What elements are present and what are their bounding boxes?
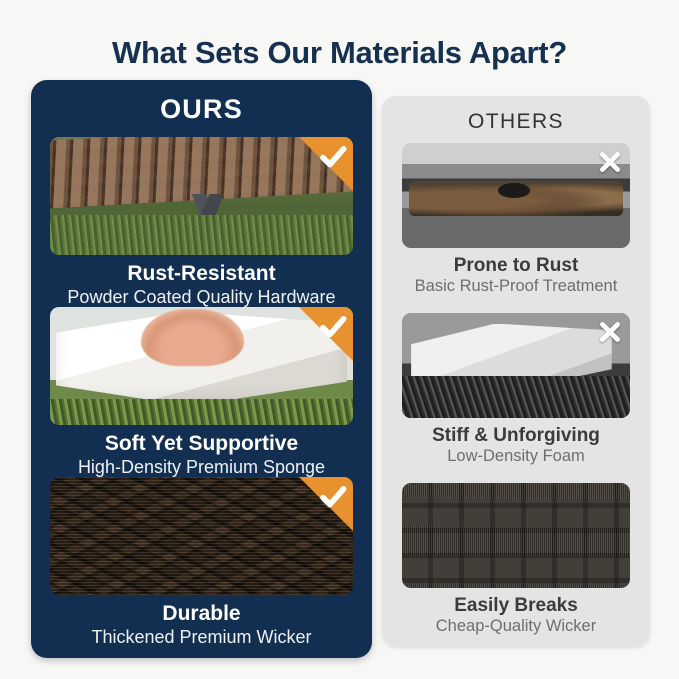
- ours-feature-subtitle: Thickened Premium Wicker: [31, 627, 372, 649]
- ours-feature-item: Rust-Resistant Powder Coated Quality Har…: [31, 137, 372, 308]
- others-panel-heading: OTHERS: [382, 110, 650, 134]
- ours-caption: Rust-Resistant Powder Coated Quality Har…: [31, 262, 372, 308]
- ours-feature-title: Soft Yet Supportive: [31, 432, 372, 456]
- photo-surface: [50, 477, 353, 595]
- others-caption: Stiff & Unforgiving Low-Density Foam: [382, 425, 650, 467]
- others-caption: Prone to Rust Basic Rust-Proof Treatment: [382, 255, 650, 297]
- photo-surface: [402, 483, 630, 588]
- x-icon: [597, 149, 623, 175]
- ours-feature-title: Rust-Resistant: [31, 262, 372, 286]
- check-icon: [318, 142, 348, 172]
- page-title: What Sets Our Materials Apart?: [0, 35, 679, 71]
- x-icon: [597, 319, 623, 345]
- photo-surface: [402, 313, 630, 418]
- others-feature-subtitle: Low-Density Foam: [382, 447, 650, 467]
- ours-caption: Durable Thickened Premium Wicker: [31, 602, 372, 648]
- photo-surface: [402, 143, 630, 248]
- ours-caption: Soft Yet Supportive High-Density Premium…: [31, 432, 372, 478]
- others-panel: OTHERS Prone to Rust Basic Rust-Proof Tr…: [382, 96, 650, 646]
- tight-wicker-weave-photo: [50, 477, 353, 595]
- check-icon: [318, 312, 348, 342]
- others-feature-item: Prone to Rust Basic Rust-Proof Treatment: [382, 143, 650, 297]
- worn-flat-wicker-photo: [402, 483, 630, 588]
- ours-panel-heading: OURS: [31, 94, 372, 125]
- ours-feature-subtitle: High-Density Premium Sponge: [31, 457, 372, 479]
- coarse-foam-block-photo: [402, 313, 630, 418]
- others-feature-subtitle: Basic Rust-Proof Treatment: [382, 277, 650, 297]
- grass-foreground: [50, 215, 353, 255]
- ours-feature-subtitle: Powder Coated Quality Hardware: [31, 287, 372, 309]
- rusted-metal-bar-photo: [402, 143, 630, 248]
- ours-panel: OURS Rust-Resistant Powder Coated Qualit…: [31, 80, 372, 658]
- ours-feature-item: Soft Yet Supportive High-Density Premium…: [31, 307, 372, 478]
- others-feature-item: Stiff & Unforgiving Low-Density Foam: [382, 313, 650, 467]
- others-feature-title: Stiff & Unforgiving: [382, 425, 650, 446]
- others-feature-item: Easily Breaks Cheap-Quality Wicker: [382, 483, 650, 637]
- others-caption: Easily Breaks Cheap-Quality Wicker: [382, 595, 650, 637]
- hand-pressing-foam-photo: [50, 307, 353, 425]
- others-feature-title: Easily Breaks: [382, 595, 650, 616]
- ours-feature-title: Durable: [31, 602, 372, 626]
- wicker-frame-on-grass-photo: [50, 137, 353, 255]
- ours-feature-item: Durable Thickened Premium Wicker: [31, 477, 372, 648]
- others-feature-title: Prone to Rust: [382, 255, 650, 276]
- grass-foreground: [50, 399, 353, 425]
- check-icon: [318, 482, 348, 512]
- others-feature-subtitle: Cheap-Quality Wicker: [382, 617, 650, 637]
